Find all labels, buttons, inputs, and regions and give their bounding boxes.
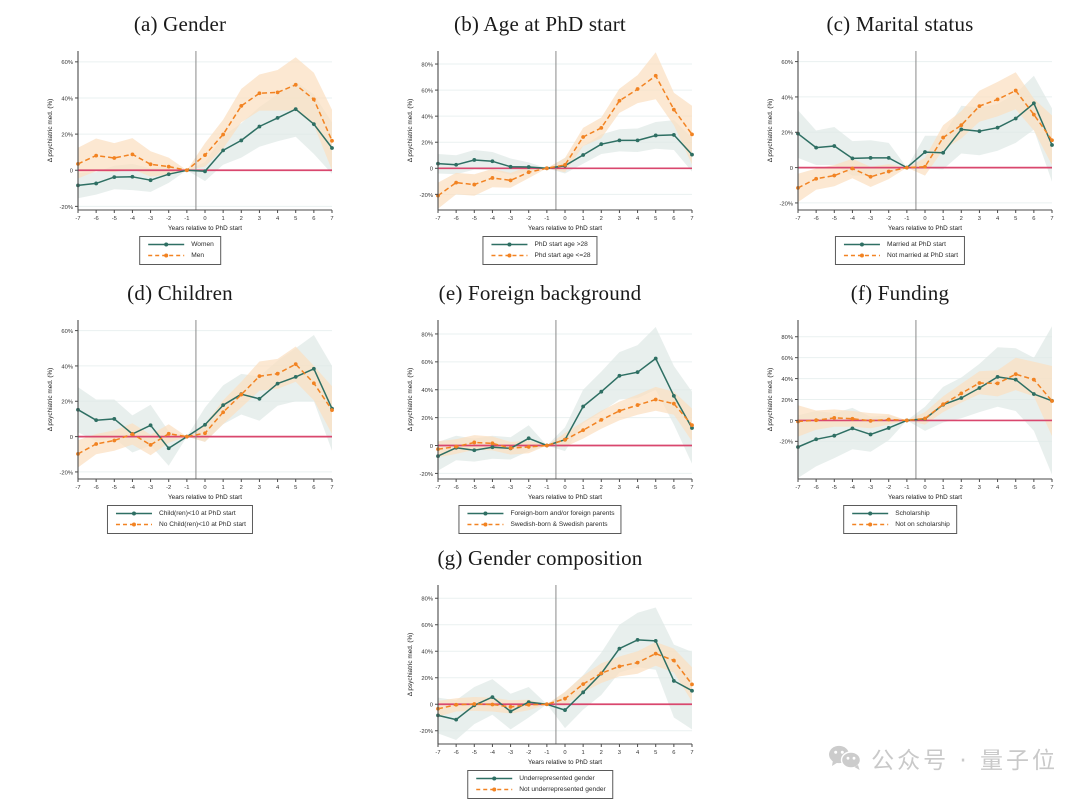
data-point — [814, 418, 818, 422]
y-axis-label: Δ psychiatric med. (%) — [407, 368, 414, 432]
y-tick-label: 20% — [421, 141, 433, 147]
data-point — [527, 170, 531, 174]
legend-key-icon — [842, 239, 882, 250]
data-point — [959, 392, 963, 396]
x-tick-label: 5 — [294, 485, 297, 491]
x-tick-label: -4 — [130, 216, 136, 222]
data-point — [149, 162, 153, 166]
data-point — [239, 393, 243, 397]
x-tick-label: -3 — [508, 216, 513, 222]
data-point — [672, 679, 676, 683]
data-point — [167, 432, 171, 436]
data-point — [618, 664, 622, 668]
data-point — [454, 445, 458, 449]
data-point — [599, 142, 603, 146]
data-point — [185, 435, 189, 439]
legend-label: Men — [191, 250, 204, 261]
data-point — [599, 390, 603, 394]
data-point — [312, 381, 316, 385]
data-point — [276, 90, 280, 94]
y-tick-label: -20% — [419, 729, 433, 735]
x-tick-label: 0 — [923, 216, 926, 222]
x-tick-label: 3 — [258, 216, 261, 222]
legend-key-icon — [489, 250, 529, 261]
data-point — [112, 417, 116, 421]
legend-item[interactable]: Women — [146, 239, 214, 250]
data-point — [941, 402, 945, 406]
data-point — [636, 370, 640, 374]
x-tick-label: 6 — [672, 216, 675, 222]
x-tick-label: 0 — [203, 216, 206, 222]
x-tick-label: -3 — [508, 750, 513, 756]
x-tick-label: 5 — [654, 216, 657, 222]
legend-item[interactable]: PhD start age >28 — [489, 239, 590, 250]
y-tick-label: 80% — [421, 597, 433, 603]
y-axis-label: Δ psychiatric med. (%) — [407, 633, 414, 697]
data-point — [1050, 143, 1054, 147]
x-tick-label: -6 — [454, 216, 459, 222]
legend-item[interactable]: Not married at PhD start — [842, 250, 958, 261]
x-tick-label: -1 — [904, 216, 909, 222]
x-tick-label: 5 — [1014, 485, 1017, 491]
y-tick-label: 40% — [421, 115, 433, 121]
data-point — [814, 177, 818, 181]
data-point — [545, 166, 549, 170]
data-point — [454, 718, 458, 722]
panel-title-a: (a) Gender — [0, 12, 360, 37]
data-point — [563, 438, 567, 442]
plot-area-f: -20%020%40%60%80%-7-6-5-4-3-2-101234567Y… — [720, 306, 1080, 521]
data-point — [454, 181, 458, 185]
data-point — [690, 689, 694, 693]
x-tick-label: 5 — [1014, 216, 1017, 222]
x-tick-label: -5 — [832, 485, 837, 491]
x-tick-label: -2 — [526, 216, 531, 222]
data-point — [491, 695, 495, 699]
y-tick-label: 20% — [421, 416, 433, 422]
y-tick-label: 60% — [781, 356, 793, 362]
data-point — [545, 702, 549, 706]
x-axis-label: Years relative to PhD start — [168, 494, 242, 501]
x-tick-label: -1 — [904, 485, 909, 491]
data-point — [312, 98, 316, 102]
data-point — [545, 444, 549, 448]
data-point — [472, 183, 476, 187]
legend-label: Women — [191, 239, 214, 250]
x-tick-label: -1 — [544, 750, 549, 756]
y-tick-label: 60% — [61, 329, 73, 335]
data-point — [690, 153, 694, 157]
x-tick-label: 4 — [996, 485, 1000, 491]
data-point — [654, 74, 658, 78]
data-point — [1014, 117, 1018, 121]
y-tick-label: 0 — [430, 444, 433, 450]
data-point — [869, 175, 873, 179]
y-tick-label: -20% — [779, 201, 793, 207]
x-tick-label: -6 — [94, 485, 99, 491]
legend-label: Not underrepresented gender — [519, 784, 606, 795]
y-tick-label: 80% — [421, 62, 433, 68]
x-axis-label: Years relative to PhD start — [528, 759, 602, 766]
x-tick-label: -1 — [184, 216, 189, 222]
data-point — [851, 157, 855, 161]
x-tick-label: -7 — [435, 750, 440, 756]
data-point — [618, 374, 622, 378]
legend-label: Swedish-born & Swedish parents — [510, 519, 607, 530]
ci-band — [438, 387, 692, 458]
legend-key-icon — [146, 239, 186, 250]
legend-c: Married at PhD startNot married at PhD s… — [835, 236, 965, 265]
data-point — [978, 129, 982, 133]
y-tick-label: 20% — [61, 400, 73, 406]
legend-item[interactable]: Scholarship — [850, 508, 950, 519]
y-tick-label: 80% — [421, 332, 433, 338]
data-point — [149, 423, 153, 427]
data-point — [131, 175, 135, 179]
x-tick-label: -3 — [148, 485, 153, 491]
y-tick-label: -20% — [419, 193, 433, 199]
wechat-icon — [828, 744, 862, 772]
data-point — [1032, 392, 1036, 396]
data-point — [814, 437, 818, 441]
data-point — [472, 158, 476, 162]
data-point — [203, 169, 207, 173]
x-tick-label: 4 — [636, 485, 640, 491]
panel-gender-composition: (g) Gender composition -20%020%40%60%80%… — [360, 546, 720, 786]
plot-area-a: -20%020%40%60%-7-6-5-4-3-2-101234567Year… — [0, 37, 360, 252]
legend-key-icon — [114, 519, 154, 530]
x-tick-label: -5 — [112, 485, 117, 491]
y-tick-label: 40% — [421, 388, 433, 394]
data-point — [851, 417, 855, 421]
x-axis-label: Years relative to PhD start — [888, 494, 962, 501]
data-point — [563, 708, 567, 712]
data-point — [923, 150, 927, 154]
y-tick-label: 40% — [781, 95, 793, 101]
x-tick-label: 6 — [312, 485, 315, 491]
legend-key-icon — [842, 250, 882, 261]
data-point — [1032, 101, 1036, 105]
data-point — [276, 116, 280, 120]
data-point — [258, 374, 262, 378]
data-point — [330, 139, 334, 143]
legend-e: Foreign-born and/or foreign parentsSwedi… — [458, 505, 621, 534]
panel-title-b: (b) Age at PhD start — [360, 12, 720, 37]
x-axis-label: Years relative to PhD start — [528, 225, 602, 232]
x-tick-label: 4 — [636, 750, 640, 756]
data-point — [869, 419, 873, 423]
y-axis-label: Δ psychiatric med. (%) — [47, 368, 54, 432]
data-point — [491, 441, 495, 445]
data-point — [996, 98, 1000, 102]
x-tick-label: -3 — [868, 485, 873, 491]
x-tick-label: -3 — [148, 216, 153, 222]
data-point — [294, 107, 298, 111]
x-tick-label: -7 — [795, 485, 800, 491]
x-tick-label: -2 — [166, 485, 171, 491]
plot-area-c: -20%020%40%60%-7-6-5-4-3-2-101234567Year… — [720, 37, 1080, 252]
ci-band — [438, 608, 692, 741]
data-point — [996, 126, 1000, 130]
y-tick-label: 80% — [781, 335, 793, 341]
data-point — [599, 418, 603, 422]
data-point — [94, 418, 98, 422]
data-point — [527, 165, 531, 169]
x-tick-label: 1 — [942, 485, 945, 491]
legend-label: Married at PhD start — [887, 239, 946, 250]
data-point — [563, 163, 567, 167]
data-point — [654, 652, 658, 656]
x-tick-label: -2 — [526, 750, 531, 756]
data-point — [509, 165, 513, 169]
x-tick-label: 6 — [672, 485, 675, 491]
x-tick-label: 2 — [240, 216, 243, 222]
data-point — [167, 172, 171, 176]
y-tick-label: 40% — [61, 96, 73, 102]
legend-item[interactable]: Swedish-born & Swedish parents — [465, 519, 614, 530]
data-point — [203, 431, 207, 435]
x-tick-label: 6 — [672, 750, 675, 756]
x-tick-label: -4 — [130, 485, 136, 491]
data-point — [672, 402, 676, 406]
data-point — [94, 154, 98, 158]
y-tick-label: -20% — [779, 440, 793, 446]
data-point — [599, 126, 603, 130]
y-axis-label: Δ psychiatric med. (%) — [767, 368, 774, 432]
plot-area-d: -20%020%40%60%-7-6-5-4-3-2-101234567Year… — [0, 306, 360, 521]
x-tick-label: 2 — [960, 485, 963, 491]
data-point — [472, 441, 476, 445]
x-tick-label: -6 — [94, 216, 99, 222]
data-point — [563, 697, 567, 701]
data-point — [112, 156, 116, 160]
data-point — [276, 372, 280, 376]
x-tick-label: -6 — [454, 485, 459, 491]
legend-item[interactable]: Child(ren)<10 at PhD start — [114, 508, 246, 519]
data-point — [978, 386, 982, 390]
data-point — [509, 710, 513, 714]
data-point — [491, 703, 495, 707]
x-tick-label: -6 — [454, 750, 459, 756]
x-tick-label: -4 — [490, 216, 496, 222]
data-point — [239, 104, 243, 108]
data-point — [636, 403, 640, 407]
data-point — [112, 175, 116, 179]
x-tick-label: 0 — [203, 485, 206, 491]
y-tick-label: 60% — [61, 60, 73, 66]
legend-b: PhD start age >28Phd start age <=28 — [482, 236, 597, 265]
legend-key-icon — [146, 250, 186, 261]
data-point — [636, 87, 640, 91]
x-axis-label: Years relative to PhD start — [528, 494, 602, 501]
data-point — [618, 409, 622, 413]
data-point — [509, 446, 513, 450]
x-tick-label: 4 — [996, 216, 1000, 222]
legend-key-icon — [850, 519, 890, 530]
data-point — [203, 423, 207, 427]
data-point — [94, 182, 98, 186]
x-tick-label: -7 — [795, 216, 800, 222]
data-point — [905, 419, 909, 423]
y-tick-label: 20% — [421, 676, 433, 682]
x-tick-label: 3 — [618, 216, 621, 222]
y-axis-label: Δ psychiatric med. (%) — [407, 99, 414, 163]
x-tick-label: 2 — [600, 485, 603, 491]
data-point — [654, 357, 658, 361]
x-tick-label: -5 — [832, 216, 837, 222]
data-point — [1014, 378, 1018, 382]
y-axis-label: Δ psychiatric med. (%) — [767, 99, 774, 163]
legend-item[interactable]: Not on scholarship — [850, 519, 950, 530]
legend-key-icon — [114, 508, 154, 519]
data-point — [258, 91, 262, 95]
data-point — [472, 702, 476, 706]
data-point — [923, 417, 927, 421]
data-point — [832, 144, 836, 148]
legend-a: WomenMen — [139, 236, 221, 265]
data-point — [959, 123, 963, 127]
watermark-text: 公众号 · 量子位 — [871, 741, 1058, 775]
data-point — [294, 83, 298, 87]
data-point — [636, 661, 640, 665]
legend-label: Phd start age <=28 — [534, 250, 590, 261]
x-tick-label: 1 — [582, 750, 585, 756]
ci-band — [798, 326, 1052, 478]
data-point — [636, 638, 640, 642]
data-point — [491, 445, 495, 449]
x-tick-label: 6 — [1032, 216, 1035, 222]
x-tick-label: 7 — [690, 216, 693, 222]
data-point — [1014, 89, 1018, 93]
legend-key-icon — [850, 508, 890, 519]
data-point — [221, 133, 225, 137]
data-point — [185, 168, 189, 172]
panel-age-at-phd-start: (b) Age at PhD start -20%020%40%60%80%-7… — [360, 12, 720, 252]
x-tick-label: 0 — [563, 750, 566, 756]
data-point — [581, 428, 585, 432]
data-point — [905, 166, 909, 170]
y-tick-label: 0 — [790, 419, 793, 425]
legend-d: Child(ren)<10 at PhD startNo Child(ren)<… — [107, 505, 253, 534]
x-tick-label: 7 — [1050, 485, 1053, 491]
data-point — [509, 179, 513, 183]
x-tick-label: -6 — [814, 485, 819, 491]
data-point — [112, 439, 116, 443]
legend-label: PhD start age >28 — [534, 239, 587, 250]
legend-item[interactable]: Married at PhD start — [842, 239, 958, 250]
x-axis-label: Years relative to PhD start — [168, 225, 242, 232]
x-tick-label: -5 — [472, 750, 477, 756]
data-point — [869, 433, 873, 437]
x-tick-label: -1 — [544, 216, 549, 222]
plot-area-b: -20%020%40%60%80%-7-6-5-4-3-2-101234567Y… — [360, 37, 720, 252]
data-point — [672, 133, 676, 137]
data-point — [887, 170, 891, 174]
data-point — [509, 705, 513, 709]
figure-grid: (a) Gender -20%020%40%60%-7-6-5-4-3-2-10… — [0, 0, 1080, 807]
legend-item[interactable]: Underrepresented gender — [474, 773, 606, 784]
data-point — [996, 381, 1000, 385]
x-tick-label: 0 — [563, 216, 566, 222]
data-point — [330, 146, 334, 150]
panel-children: (d) Children -20%020%40%60%-7-6-5-4-3-2-… — [0, 281, 360, 521]
data-point — [978, 381, 982, 385]
x-tick-label: -4 — [490, 750, 496, 756]
data-point — [131, 152, 135, 156]
x-tick-label: 4 — [276, 485, 280, 491]
x-tick-label: 1 — [222, 485, 225, 491]
x-tick-label: 7 — [330, 485, 333, 491]
data-point — [690, 423, 694, 427]
chart-svg-g: -20%020%40%60%80%-7-6-5-4-3-2-101234567Y… — [360, 571, 720, 786]
panel-title-f: (f) Funding — [720, 281, 1080, 306]
legend-item[interactable]: Phd start age <=28 — [489, 250, 590, 261]
x-tick-label: -2 — [166, 216, 171, 222]
data-point — [203, 153, 207, 157]
data-point — [491, 159, 495, 163]
x-tick-label: 6 — [1032, 485, 1035, 491]
data-point — [672, 659, 676, 663]
legend-label: Underrepresented gender — [519, 773, 595, 784]
data-point — [454, 163, 458, 167]
y-tick-label: 20% — [781, 131, 793, 137]
legend-label: Not on scholarship — [895, 519, 950, 530]
legend-item[interactable]: Men — [146, 250, 214, 261]
x-tick-label: 4 — [636, 216, 640, 222]
data-point — [672, 394, 676, 398]
legend-f: ScholarshipNot on scholarship — [843, 505, 957, 534]
legend-item[interactable]: No Child(ren)<10 at PhD start — [114, 519, 246, 530]
data-point — [149, 443, 153, 447]
x-tick-label: 1 — [222, 216, 225, 222]
legend-item[interactable]: Not underrepresented gender — [474, 784, 606, 795]
x-tick-label: -2 — [526, 485, 531, 491]
x-tick-label: -4 — [850, 485, 856, 491]
data-point — [221, 148, 225, 152]
y-axis-label: Δ psychiatric med. (%) — [47, 99, 54, 163]
x-tick-label: 2 — [960, 216, 963, 222]
legend-g: Underrepresented genderNot underrepresen… — [467, 770, 613, 799]
legend-item[interactable]: Foreign-born and/or foreign parents — [465, 508, 614, 519]
x-tick-label: -6 — [814, 216, 819, 222]
y-tick-label: -20% — [59, 470, 73, 476]
x-tick-label: -5 — [472, 216, 477, 222]
data-point — [221, 410, 225, 414]
x-tick-label: 0 — [923, 485, 926, 491]
y-tick-label: 40% — [781, 377, 793, 383]
data-point — [996, 375, 1000, 379]
x-tick-label: -3 — [508, 485, 513, 491]
data-point — [618, 647, 622, 651]
data-point — [851, 426, 855, 430]
plot-area-g: -20%020%40%60%80%-7-6-5-4-3-2-101234567Y… — [360, 571, 720, 786]
x-axis-label: Years relative to PhD start — [888, 225, 962, 232]
chart-svg-c: -20%020%40%60%-7-6-5-4-3-2-101234567Year… — [720, 37, 1080, 252]
x-tick-label: 0 — [563, 485, 566, 491]
y-tick-label: -20% — [419, 472, 433, 478]
data-point — [239, 139, 243, 143]
data-point — [454, 703, 458, 707]
y-tick-label: 20% — [61, 133, 73, 139]
data-point — [258, 397, 262, 401]
chart-svg-b: -20%020%40%60%80%-7-6-5-4-3-2-101234567Y… — [360, 37, 720, 252]
chart-svg-d: -20%020%40%60%-7-6-5-4-3-2-101234567Year… — [0, 306, 360, 521]
panel-title-d: (d) Children — [0, 281, 360, 306]
x-tick-label: 5 — [654, 750, 657, 756]
data-point — [959, 128, 963, 132]
legend-key-icon — [474, 773, 514, 784]
chart-svg-a: -20%020%40%60%-7-6-5-4-3-2-101234567Year… — [0, 37, 360, 252]
